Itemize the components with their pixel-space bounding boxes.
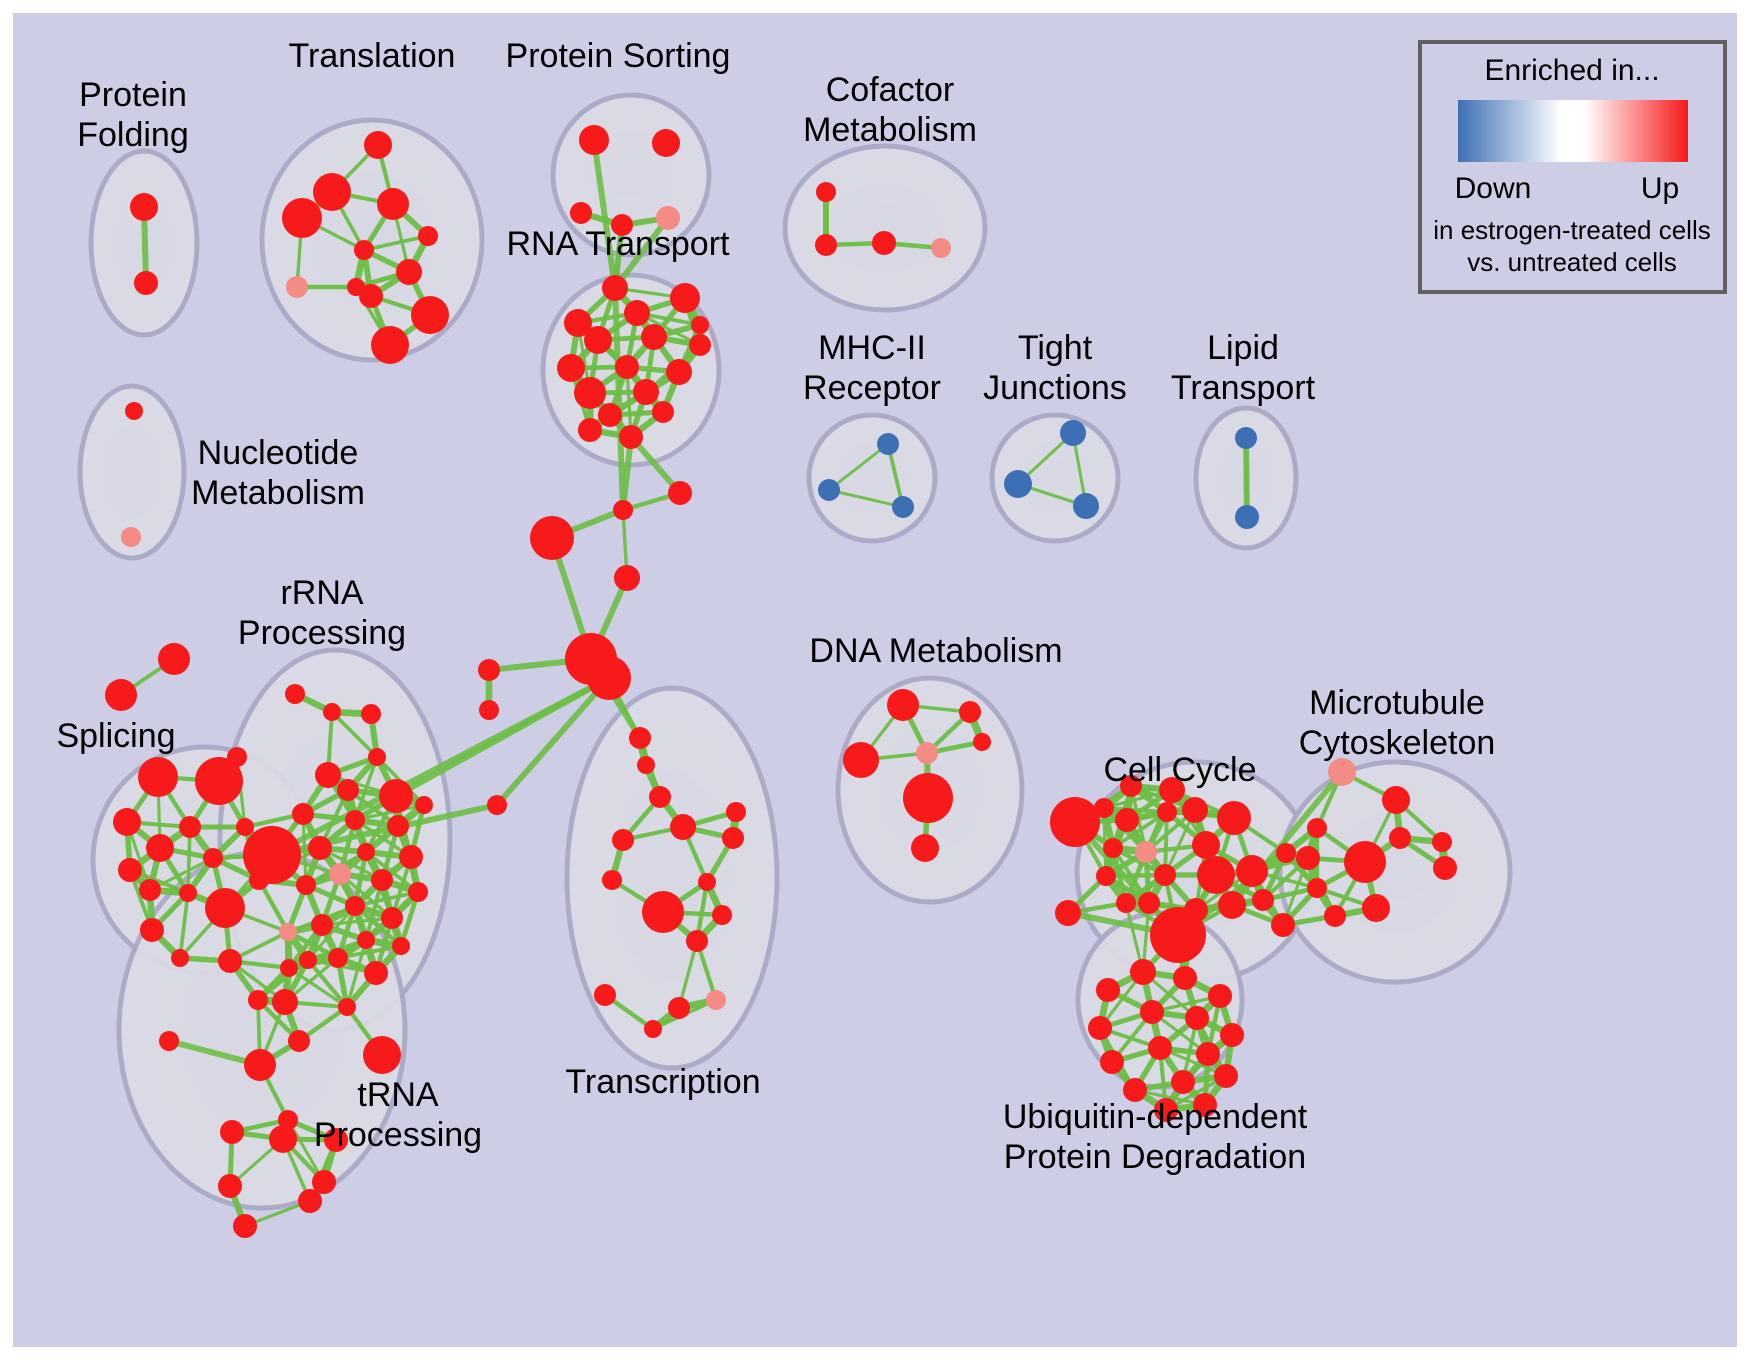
- network-node[interactable]: [712, 905, 732, 925]
- network-node[interactable]: [415, 796, 433, 814]
- network-node[interactable]: [272, 989, 298, 1015]
- network-node[interactable]: [286, 276, 308, 298]
- network-node[interactable]: [1130, 959, 1156, 985]
- network-node[interactable]: [478, 659, 500, 681]
- network-node[interactable]: [1382, 786, 1410, 814]
- network-node[interactable]: [1196, 1042, 1220, 1066]
- network-node[interactable]: [602, 275, 628, 301]
- cluster-label-translation: Translation: [289, 37, 456, 75]
- network-node[interactable]: [666, 359, 692, 385]
- network-node[interactable]: [345, 810, 365, 830]
- network-node[interactable]: [328, 948, 348, 968]
- network-node[interactable]: [642, 891, 684, 933]
- network-node[interactable]: [278, 1110, 298, 1130]
- network-node[interactable]: [220, 1120, 244, 1144]
- network-node[interactable]: [931, 238, 951, 258]
- network-node[interactable]: [1296, 846, 1320, 870]
- network-node[interactable]: [233, 1214, 257, 1238]
- network-node[interactable]: [1307, 878, 1327, 898]
- network-node[interactable]: [1182, 797, 1208, 823]
- network-node[interactable]: [1271, 913, 1295, 937]
- network-node[interactable]: [1148, 1036, 1172, 1060]
- network-node[interactable]: [959, 701, 981, 723]
- network-node[interactable]: [418, 226, 438, 246]
- cluster-label-cell-cycle: Cell Cycle: [1103, 751, 1256, 789]
- network-node[interactable]: [629, 727, 651, 749]
- network-node[interactable]: [158, 643, 190, 675]
- network-node[interactable]: [843, 742, 879, 778]
- network-node[interactable]: [130, 193, 158, 221]
- network-node[interactable]: [722, 827, 744, 849]
- network-node[interactable]: [1433, 856, 1457, 880]
- network-node[interactable]: [345, 896, 365, 916]
- network-node[interactable]: [619, 425, 643, 449]
- network-node[interactable]: [892, 496, 914, 518]
- network-node[interactable]: [689, 334, 711, 356]
- network-node[interactable]: [649, 786, 671, 808]
- network-node[interactable]: [171, 949, 189, 967]
- legend-down-label: Down: [1455, 172, 1532, 205]
- network-node[interactable]: [121, 527, 141, 547]
- network-node[interactable]: [613, 500, 633, 520]
- network-node[interactable]: [218, 1174, 242, 1198]
- network-node[interactable]: [816, 182, 836, 202]
- network-node[interactable]: [815, 234, 837, 256]
- network-node[interactable]: [139, 879, 161, 901]
- legend: Enriched in... Down Up in estrogen-treat…: [1420, 42, 1725, 292]
- network-node[interactable]: [614, 565, 640, 591]
- network-node[interactable]: [399, 845, 423, 869]
- legend-caption-line2: vs. untreated cells: [1467, 247, 1677, 277]
- network-node[interactable]: [357, 931, 375, 949]
- network-node[interactable]: [411, 296, 449, 334]
- network-node[interactable]: [379, 779, 413, 813]
- legend-gradient-bar: [1458, 100, 1688, 162]
- network-node[interactable]: [1217, 801, 1251, 835]
- cluster-label-protein-sorting: Protein Sorting: [506, 37, 731, 75]
- cluster-label-dna-metabolism: DNA Metabolism: [809, 632, 1062, 670]
- network-node[interactable]: [179, 884, 197, 902]
- network-node[interactable]: [396, 259, 422, 285]
- network-node[interactable]: [244, 1049, 276, 1081]
- network-node[interactable]: [911, 834, 939, 862]
- network-node[interactable]: [364, 961, 388, 985]
- network-node[interactable]: [381, 907, 403, 929]
- network-node[interactable]: [1140, 1000, 1164, 1024]
- network-node[interactable]: [686, 930, 708, 952]
- network-node[interactable]: [218, 949, 242, 973]
- network-node[interactable]: [280, 959, 298, 977]
- network-node[interactable]: [903, 773, 953, 823]
- network-node[interactable]: [1150, 907, 1206, 963]
- network-node[interactable]: [1135, 841, 1157, 863]
- network-node[interactable]: [138, 757, 178, 797]
- network-node[interactable]: [371, 869, 393, 891]
- network-node[interactable]: [574, 377, 606, 409]
- network-node[interactable]: [205, 888, 245, 928]
- network-node[interactable]: [248, 990, 268, 1010]
- network-node[interactable]: [354, 240, 374, 260]
- network-node[interactable]: [598, 403, 622, 427]
- network-node[interactable]: [633, 379, 659, 405]
- network-node[interactable]: [203, 848, 223, 868]
- network-node[interactable]: [1389, 827, 1411, 849]
- network-node[interactable]: [387, 815, 409, 837]
- network-node[interactable]: [299, 951, 317, 969]
- network-node[interactable]: [279, 923, 297, 941]
- network-node[interactable]: [1192, 831, 1220, 859]
- network-node[interactable]: [1004, 470, 1032, 498]
- network-node[interactable]: [359, 284, 383, 308]
- network-node[interactable]: [578, 418, 602, 442]
- network-node[interactable]: [1103, 838, 1123, 858]
- network-node[interactable]: [916, 742, 938, 764]
- network-node[interactable]: [670, 814, 696, 840]
- network-node[interactable]: [368, 748, 386, 766]
- network-node[interactable]: [1197, 856, 1235, 894]
- network-node[interactable]: [644, 1020, 662, 1038]
- network-node[interactable]: [706, 990, 726, 1010]
- network-node[interactable]: [140, 918, 164, 942]
- network-node[interactable]: [1094, 798, 1114, 818]
- cluster-hull-cofactor-metabolism: [785, 146, 985, 310]
- network-node[interactable]: [408, 882, 428, 902]
- network-node[interactable]: [1220, 1023, 1244, 1047]
- network-node[interactable]: [308, 836, 332, 860]
- network-node[interactable]: [338, 998, 356, 1016]
- network-node[interactable]: [1276, 843, 1296, 863]
- network-node[interactable]: [479, 700, 499, 720]
- cluster-label-rna-transport: RNA Transport: [507, 225, 731, 263]
- network-node[interactable]: [315, 762, 341, 788]
- network-node[interactable]: [602, 870, 622, 890]
- network-node[interactable]: [668, 481, 692, 505]
- network-node[interactable]: [1138, 892, 1160, 914]
- network-node[interactable]: [292, 803, 314, 825]
- network-node[interactable]: [313, 173, 351, 211]
- network-node[interactable]: [1096, 978, 1120, 1002]
- network-node[interactable]: [1252, 889, 1274, 911]
- network-node[interactable]: [243, 826, 301, 884]
- network-node[interactable]: [146, 834, 174, 862]
- network-node[interactable]: [1218, 891, 1246, 919]
- network-node[interactable]: [1073, 493, 1099, 519]
- cluster-label-transcription: Transcription: [565, 1063, 760, 1101]
- network-node[interactable]: [1157, 802, 1177, 822]
- network-node[interactable]: [363, 1036, 401, 1074]
- network-node[interactable]: [1328, 758, 1356, 786]
- network-node[interactable]: [1055, 900, 1081, 926]
- network-node[interactable]: [1060, 420, 1086, 446]
- network-node[interactable]: [594, 984, 616, 1006]
- network-node[interactable]: [668, 997, 690, 1019]
- network-node[interactable]: [329, 863, 351, 885]
- network-node[interactable]: [557, 354, 585, 382]
- network-node[interactable]: [487, 795, 507, 815]
- legend-caption-line1: in estrogen-treated cells: [1433, 215, 1710, 245]
- network-node[interactable]: [159, 1031, 179, 1051]
- network-node[interactable]: [973, 733, 991, 751]
- network-node[interactable]: [179, 816, 201, 838]
- network-node[interactable]: [1115, 808, 1139, 832]
- network-node[interactable]: [1214, 1064, 1238, 1088]
- network-node[interactable]: [1096, 866, 1116, 886]
- network-node[interactable]: [195, 757, 243, 805]
- network-node[interactable]: [615, 355, 639, 379]
- network-node[interactable]: [1307, 818, 1327, 838]
- network-node[interactable]: [530, 516, 574, 560]
- network-node[interactable]: [1088, 1016, 1112, 1040]
- legend-up-label: Up: [1641, 172, 1679, 205]
- network-node[interactable]: [113, 808, 141, 836]
- network-node[interactable]: [1208, 984, 1232, 1008]
- network-node[interactable]: [361, 704, 381, 724]
- network-node[interactable]: [323, 703, 341, 721]
- network-node[interactable]: [288, 1030, 310, 1052]
- network-node[interactable]: [698, 873, 716, 891]
- network-node[interactable]: [1100, 1050, 1124, 1074]
- network-node[interactable]: [377, 188, 409, 220]
- network-node[interactable]: [311, 914, 333, 936]
- network-node[interactable]: [570, 202, 592, 224]
- network-node[interactable]: [118, 858, 142, 882]
- network-node[interactable]: [1173, 966, 1197, 990]
- network-node[interactable]: [877, 433, 899, 455]
- network-node[interactable]: [1154, 864, 1176, 886]
- network-node[interactable]: [652, 401, 674, 423]
- network-node[interactable]: [371, 326, 409, 364]
- network-node[interactable]: [1236, 855, 1268, 887]
- network-node[interactable]: [726, 802, 746, 822]
- network-node[interactable]: [612, 829, 634, 851]
- figure-canvas: ProteinFoldingTranslationProtein Sorting…: [0, 0, 1750, 1360]
- network-node[interactable]: [641, 324, 667, 350]
- network-node[interactable]: [1116, 893, 1136, 913]
- network-node[interactable]: [134, 271, 158, 295]
- network-node[interactable]: [818, 479, 840, 501]
- network-node[interactable]: [357, 843, 375, 861]
- legend-title: Enriched in...: [1484, 54, 1659, 87]
- network-node[interactable]: [637, 756, 655, 774]
- network-node[interactable]: [1324, 905, 1346, 927]
- network-node[interactable]: [1185, 1006, 1209, 1030]
- network-node[interactable]: [624, 300, 650, 326]
- network-node[interactable]: [579, 125, 609, 155]
- network-node[interactable]: [269, 1125, 297, 1153]
- network-node[interactable]: [364, 131, 392, 159]
- network-node[interactable]: [236, 818, 254, 836]
- network-node[interactable]: [296, 875, 316, 895]
- network-node[interactable]: [312, 1170, 336, 1194]
- network-node[interactable]: [652, 129, 680, 157]
- network-node[interactable]: [887, 689, 919, 721]
- network-node[interactable]: [584, 326, 612, 354]
- network-node[interactable]: [1432, 832, 1452, 852]
- network-node[interactable]: [337, 779, 359, 801]
- network-node[interactable]: [691, 316, 709, 334]
- cluster-label-splicing: Splicing: [56, 717, 175, 755]
- network-node[interactable]: [670, 283, 700, 313]
- network-node[interactable]: [587, 656, 631, 700]
- network-node[interactable]: [285, 684, 305, 704]
- network-node[interactable]: [1235, 427, 1257, 449]
- network-diagram: ProteinFoldingTranslationProtein Sorting…: [0, 0, 1750, 1360]
- network-node[interactable]: [872, 231, 896, 255]
- network-node[interactable]: [105, 679, 137, 711]
- cluster-hull-mhc-ii-receptor: [809, 415, 935, 541]
- network-node[interactable]: [392, 937, 410, 955]
- network-node[interactable]: [1050, 797, 1100, 847]
- network-node[interactable]: [1362, 894, 1390, 922]
- network-node[interactable]: [1171, 1070, 1195, 1094]
- network-node[interactable]: [1235, 505, 1259, 529]
- network-node[interactable]: [125, 402, 143, 420]
- network-node[interactable]: [1344, 841, 1386, 883]
- network-node[interactable]: [282, 198, 322, 238]
